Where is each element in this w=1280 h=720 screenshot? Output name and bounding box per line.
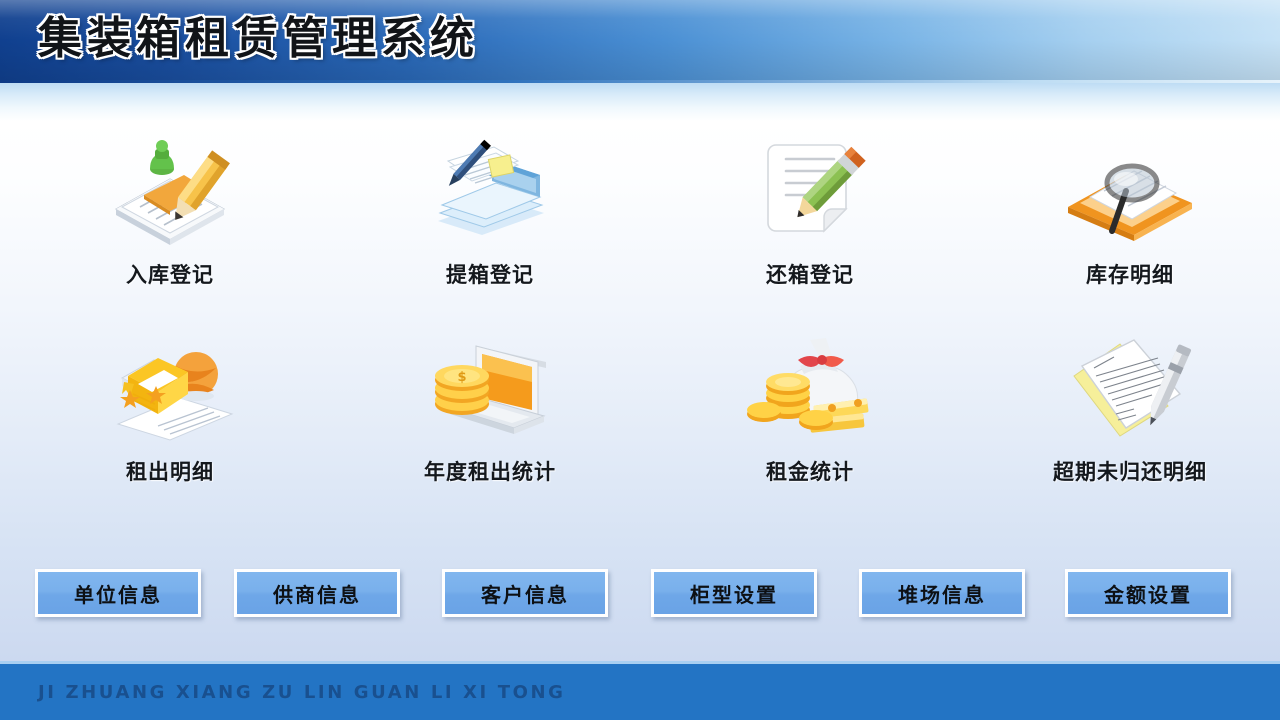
settings-button-row: 单位信息 供商信息 客户信息 柜型设置 堆场信息 金额设置 — [0, 569, 1280, 629]
module-tile-huanxiang-dengji[interactable]: 还箱登记 — [660, 135, 960, 332]
laptop-coins-icon: $ — [420, 332, 560, 450]
module-tile-label: 提箱登记 — [446, 259, 534, 289]
title-banner: 集装箱租赁管理系统 — [0, 0, 1280, 83]
application-window: 集装箱租赁管理系统 — [0, 0, 1280, 720]
nav-button-label: 供商信息 — [273, 579, 361, 608]
banner-underglow — [0, 83, 1280, 121]
footer-pinyin-text: JI ZHUANG XIANG ZU LIN GUAN LI XI TONG — [38, 682, 566, 703]
module-tile-label: 年度租出统计 — [424, 456, 556, 486]
module-tile-label: 租出明细 — [126, 456, 214, 486]
module-tile-niandu-zuchu-tongji[interactable]: $ 年度租出统计 — [340, 332, 640, 529]
nav-button-jine-shezhi[interactable]: 金额设置 — [1065, 569, 1231, 617]
module-tile-label: 入库登记 — [126, 259, 214, 289]
module-tile-chaoqi-weiguihuan-mingxi[interactable]: 超期未归还明细 — [980, 332, 1280, 529]
nav-button-kehu-xinxi[interactable]: 客户信息 — [442, 569, 608, 617]
letter-pen-icon — [1060, 332, 1200, 450]
nav-button-label: 客户信息 — [481, 579, 569, 608]
module-tile-tixiang-dengji[interactable]: 提箱登记 — [340, 135, 640, 332]
module-tile-label: 还箱登记 — [766, 259, 854, 289]
module-tile-label: 超期未归还明细 — [1053, 456, 1207, 486]
nav-button-guixing-shezhi[interactable]: 柜型设置 — [651, 569, 817, 617]
module-tile-kucun-mingxi[interactable]: 库存明细 — [980, 135, 1280, 332]
nav-button-label: 单位信息 — [74, 579, 162, 608]
nav-button-label: 金额设置 — [1104, 579, 1192, 608]
nav-button-label: 堆场信息 — [898, 579, 986, 608]
main-content: 入库登记 — [0, 121, 1280, 661]
module-tile-ruku-dengji[interactable]: 入库登记 — [20, 135, 320, 332]
money-bag-coins-icon — [740, 332, 880, 450]
nav-button-gongshang-xinxi[interactable]: 供商信息 — [234, 569, 400, 617]
footer-bar: JI ZHUANG XIANG ZU LIN GUAN LI XI TONG — [0, 661, 1280, 720]
module-tile-label: 库存明细 — [1086, 259, 1174, 289]
nav-button-label: 柜型设置 — [690, 579, 778, 608]
green-pencil-note-icon — [740, 135, 880, 253]
module-icon-grid: 入库登记 — [0, 135, 1280, 529]
module-tile-label: 租金统计 — [766, 456, 854, 486]
blue-folders-pen-icon — [420, 135, 560, 253]
magnifier-document-icon — [1060, 135, 1200, 253]
svg-text:$: $ — [457, 370, 466, 385]
module-tile-zuchu-mingxi[interactable]: 租出明细 — [20, 332, 320, 529]
module-tile-zujin-tongji[interactable]: 租金统计 — [660, 332, 960, 529]
page-title: 集装箱租赁管理系统 — [38, 11, 479, 67]
nav-button-danwei-xinxi[interactable]: 单位信息 — [35, 569, 201, 617]
nav-button-duichang-xinxi[interactable]: 堆场信息 — [859, 569, 1025, 617]
stamp-pencil-form-icon — [100, 135, 240, 253]
yellow-books-globe-icon — [100, 332, 240, 450]
